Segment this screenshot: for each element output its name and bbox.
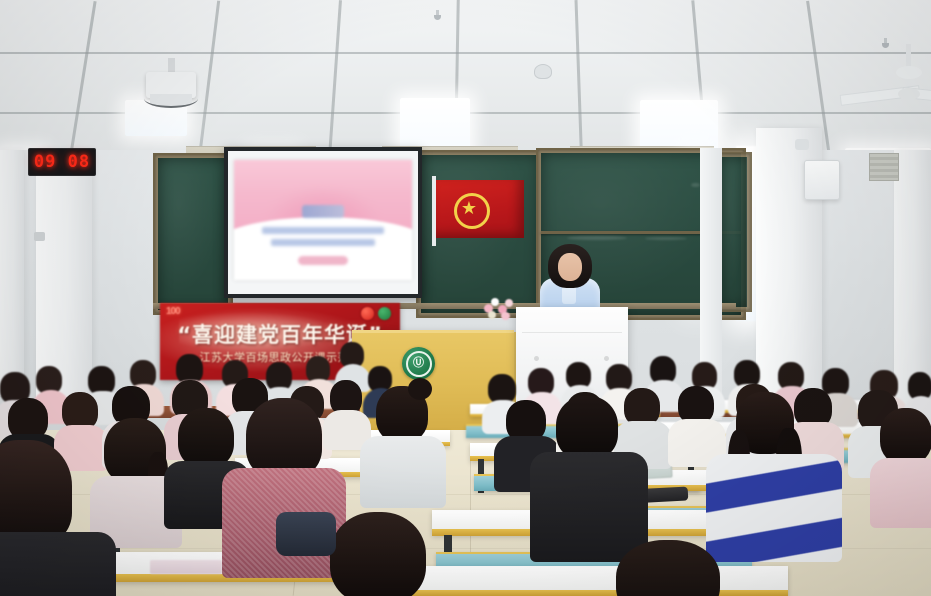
clock-time: 09 08 (34, 152, 90, 172)
jiangsu-university-emblem: Ⓤ (402, 347, 435, 380)
communist-youth-league-flag: ★ (432, 180, 524, 242)
star-icon: ★ (460, 199, 478, 217)
ceiling-projector (140, 58, 202, 108)
smoke-detector-icon (534, 64, 552, 79)
slide-badge (298, 256, 348, 266)
backpack (276, 512, 336, 556)
flower-arrangement (484, 296, 518, 322)
projection-screen (224, 147, 422, 298)
sprinkler-head (434, 10, 441, 20)
slide-logo (302, 205, 345, 218)
wall-column-left-outer (0, 150, 24, 396)
blackboard-panel-left (153, 153, 233, 315)
wall-vent (869, 153, 899, 181)
wall-speaker (795, 139, 809, 150)
wall-speaker (34, 232, 45, 241)
notebook (150, 560, 222, 574)
ceiling-fan (884, 44, 931, 122)
equipment-box (804, 160, 840, 200)
classroom-photo: ★ 09 08 100 “喜迎建党百年华诞 (0, 0, 931, 596)
emblem-glyph: Ⓤ (406, 351, 432, 377)
projected-slide (234, 160, 413, 280)
lecturer (534, 244, 606, 314)
led-wall-clock: 09 08 (28, 148, 96, 176)
banner-logo-100: 100 (166, 306, 180, 317)
